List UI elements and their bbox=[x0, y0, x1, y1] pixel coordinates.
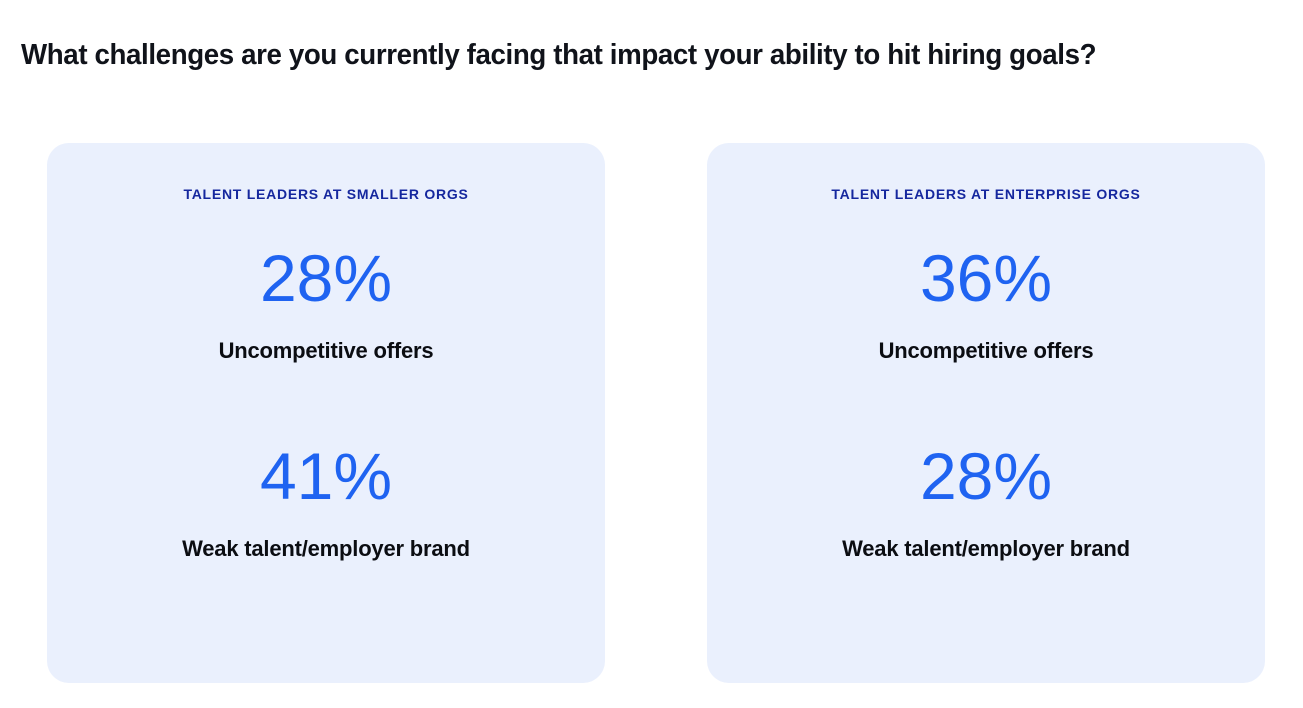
stat-label: Uncompetitive offers bbox=[879, 337, 1094, 365]
stat-card-smaller-orgs: TALENT LEADERS AT SMALLER ORGS 28% Uncom… bbox=[47, 143, 605, 683]
stat-block: 28% Weak talent/employer brand bbox=[731, 441, 1241, 563]
page-title: What challenges are you currently facing… bbox=[21, 37, 1215, 73]
stat-block: 36% Uncompetitive offers bbox=[731, 243, 1241, 365]
stat-value: 28% bbox=[920, 441, 1052, 511]
stat-card-enterprise-orgs: TALENT LEADERS AT ENTERPRISE ORGS 36% Un… bbox=[707, 143, 1265, 683]
stat-card-eyebrow: TALENT LEADERS AT ENTERPRISE ORGS bbox=[831, 185, 1140, 203]
stat-card-eyebrow: TALENT LEADERS AT SMALLER ORGS bbox=[183, 185, 468, 203]
stat-value: 36% bbox=[920, 243, 1052, 313]
stat-card-group: TALENT LEADERS AT SMALLER ORGS 28% Uncom… bbox=[47, 143, 1265, 683]
stat-label: Uncompetitive offers bbox=[219, 337, 434, 365]
stat-block: 41% Weak talent/employer brand bbox=[71, 441, 581, 563]
stat-value: 28% bbox=[260, 243, 392, 313]
stat-block: 28% Uncompetitive offers bbox=[71, 243, 581, 365]
stat-value: 41% bbox=[260, 441, 392, 511]
stat-label: Weak talent/employer brand bbox=[842, 535, 1130, 563]
survey-result-page: What challenges are you currently facing… bbox=[0, 0, 1303, 708]
stat-label: Weak talent/employer brand bbox=[182, 535, 470, 563]
